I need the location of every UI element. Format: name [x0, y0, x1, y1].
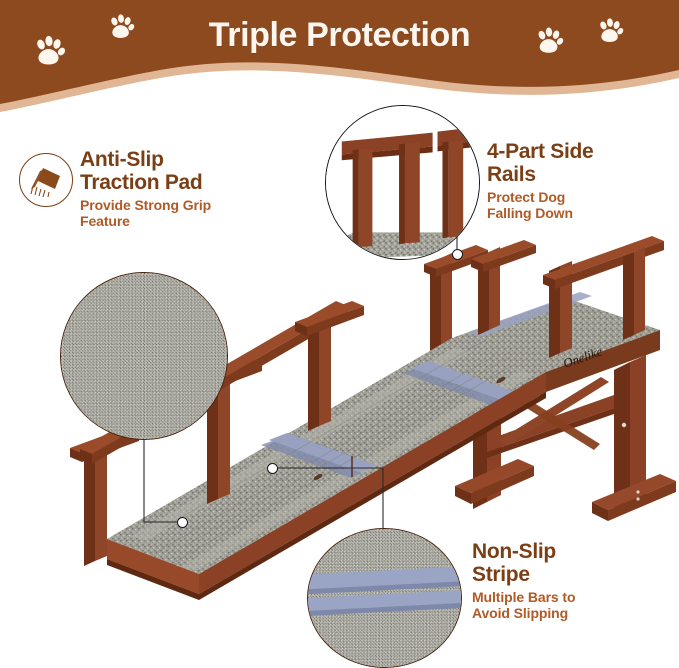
- header-banner: Triple Protection: [0, 0, 679, 115]
- feature-block-non-slip-stripe: Non-Slip Stripe Multiple Bars to Avoid S…: [472, 540, 672, 621]
- feature-subtitle: Multiple Bars to Avoid Slipping: [472, 589, 672, 621]
- feature-block-4-part-side-rails: 4-Part Side Rails Protect Dog Falling Do…: [487, 140, 662, 221]
- detail-bubble-side-rails: [325, 105, 480, 260]
- feature-subtitle: Provide Strong Grip Feature: [80, 197, 260, 229]
- feature-block-anti-slip-traction-pad: Anti-Slip Traction Pad Provide Strong Gr…: [80, 148, 260, 229]
- page-title: Triple Protection: [0, 14, 679, 56]
- callout-dot-side-rails: [452, 249, 463, 260]
- feature-subtitle: Protect Dog Falling Down: [487, 189, 662, 221]
- detail-bubble-traction-pad: [60, 272, 228, 440]
- callout-dot-traction-pad: [177, 517, 188, 528]
- feature-title: 4-Part Side Rails: [487, 140, 662, 186]
- feature-title: Non-Slip Stripe: [472, 540, 672, 586]
- infographic-canvas: Onelike: [0, 0, 679, 665]
- traction-pad-icon: [19, 153, 73, 207]
- detail-bubble-non-slip-stripe: [307, 528, 462, 668]
- feature-title: Anti-Slip Traction Pad: [80, 148, 260, 194]
- callout-dot-non-slip-stripe: [267, 463, 278, 474]
